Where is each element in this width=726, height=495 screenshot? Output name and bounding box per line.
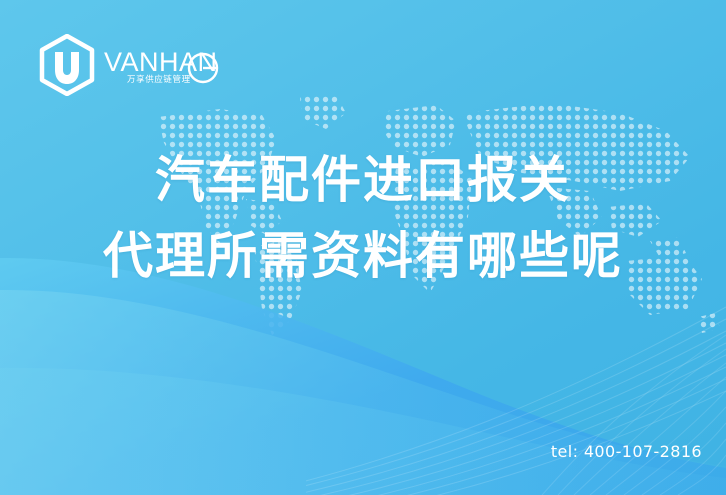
headline-line-2: 代理所需资料有哪些呢 <box>0 218 726 294</box>
wordmark: VANHAN 万享供应链管理 <box>104 41 222 89</box>
headline: 汽车配件进口报关 代理所需资料有哪些呢 <box>0 142 726 294</box>
line-fan-decoration <box>306 305 726 495</box>
hexagon-cube-logo-icon <box>38 34 96 96</box>
promo-banner: VANHAN 万享供应链管理 汽车配件进口报关 代理所需资料有哪些呢 tel: … <box>0 0 726 495</box>
wordmark-subtitle: 万享供应链管理 <box>127 74 191 85</box>
brand-logo[interactable]: VANHAN 万享供应链管理 <box>38 33 222 97</box>
contact-telephone: tel: 400-107-2816 <box>551 442 702 461</box>
wordmark-text: VANHAN <box>104 47 218 77</box>
headline-line-1: 汽车配件进口报关 <box>0 142 726 218</box>
